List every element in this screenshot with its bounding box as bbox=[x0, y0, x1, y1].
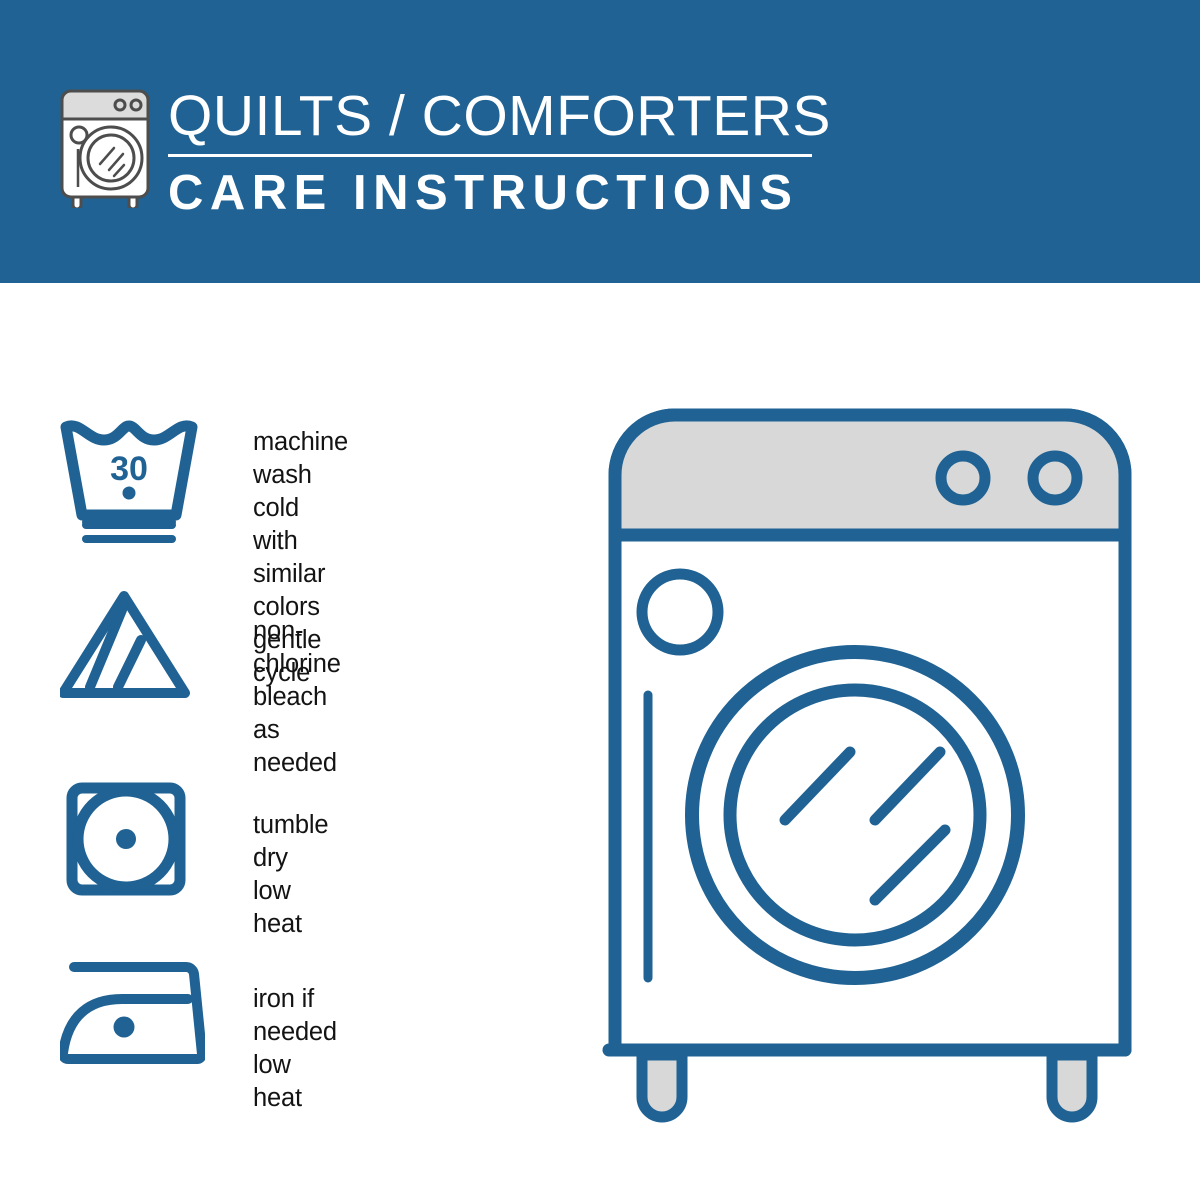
title-divider bbox=[168, 154, 812, 157]
machine-foot-right bbox=[1052, 1055, 1092, 1117]
header-banner: QUILTS / COMFORTERS CARE INSTRUCTIONS bbox=[0, 0, 1200, 283]
washing-machine-icon bbox=[56, 86, 154, 208]
dry-heat-dot-icon bbox=[116, 829, 136, 849]
tumble-dry-icon bbox=[60, 782, 198, 897]
header-title-group: QUILTS / COMFORTERS CARE INSTRUCTIONS bbox=[168, 84, 828, 221]
wash-dot-icon bbox=[123, 487, 136, 500]
control-panel bbox=[615, 415, 1125, 535]
machine-foot-left bbox=[642, 1055, 682, 1117]
care-text-tumble-dry: tumble dry low heat bbox=[253, 809, 328, 941]
washing-machine-illustration bbox=[600, 400, 1170, 1130]
page-subtitle: CARE INSTRUCTIONS bbox=[168, 165, 828, 221]
bleach-triangle-icon bbox=[60, 588, 198, 703]
care-text-iron: iron if needed low heat bbox=[253, 983, 337, 1115]
page-title: QUILTS / COMFORTERS bbox=[168, 84, 828, 148]
iron-icon bbox=[60, 955, 205, 1065]
iron-heat-dot-icon bbox=[114, 1017, 135, 1038]
wash-temperature-label: 30 bbox=[110, 450, 148, 488]
care-text-bleach: non-chlorine bleach as needed bbox=[253, 615, 341, 780]
care-instructions-page: QUILTS / COMFORTERS CARE INSTRUCTIONS 30… bbox=[0, 0, 1200, 1200]
wash-tub-icon: 30 bbox=[60, 418, 198, 530]
gentle-cycle-bars-icon bbox=[60, 518, 198, 544]
